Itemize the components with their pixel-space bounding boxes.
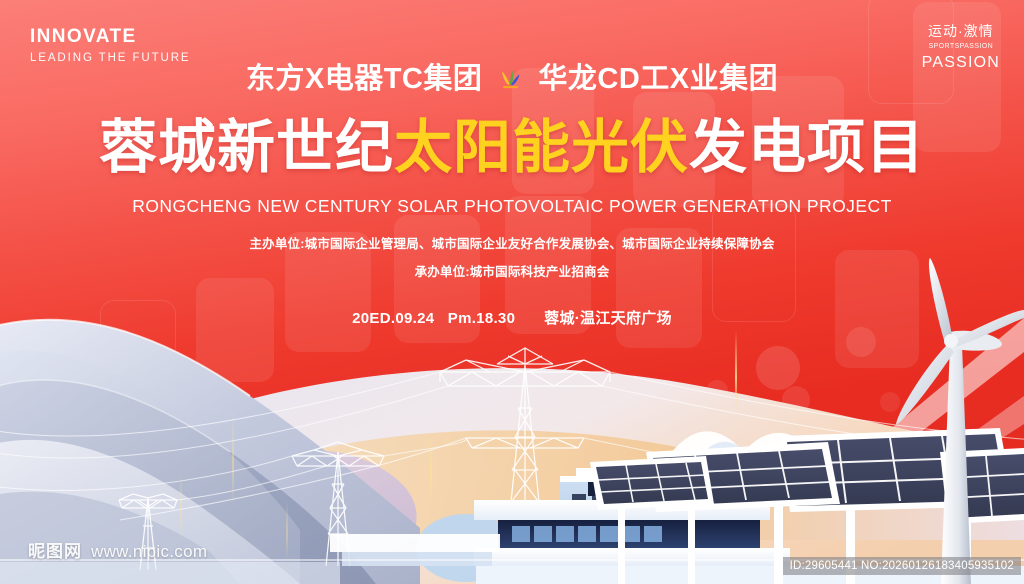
page-title: 蓉城新世纪太阳能光伏发电项目 (0, 119, 1024, 177)
brand-tagline: LEADING THE FUTURE (30, 53, 191, 65)
organizer-line-1: 主办单位:城市国际企业管理局、城市国际企业友好合作发展协会、城市国际企业持续保障… (0, 238, 1024, 251)
title-part-1: 蓉城新世纪 (99, 115, 394, 180)
company-row: 东方X电器TC集团 华龙CD工X业集团 (0, 64, 1024, 94)
left-company-name: 东方X电器TC集团 (246, 65, 483, 94)
leaf-sprout-mark-icon (495, 64, 525, 94)
stock-id-badge: ID:29605441 NO:20260126183405935102 (783, 557, 1021, 575)
event-time: Pm.18.30 (448, 310, 515, 327)
watermark-site-cn: 昵图网 (28, 537, 82, 562)
watermark: 昵图网 www.nipic.com (28, 537, 207, 562)
organizer-line-2: 承办单位:城市国际科技产业招商会 (0, 266, 1024, 279)
subtitle-english: RONGCHENG NEW CENTURY SOLAR PHOTOVOLTAIC… (0, 198, 1024, 216)
event-info-line: 20ED.09.24 Pm.18.30 蓉城·温江天府广场 (0, 311, 1024, 326)
passion-english-small: SPORTSPASSION (922, 43, 1000, 50)
right-company-name: 华龙CD工X业集团 (538, 65, 778, 94)
brand-logo-top-left: INNOVATE LEADING THE FUTURE (30, 27, 191, 65)
poster-canvas: INNOVATE LEADING THE FUTURE 运动·激情 SPORTS… (0, 0, 1024, 584)
passion-chinese: 运动·激情 (922, 24, 1000, 38)
brand-name: INNOVATE (30, 27, 191, 46)
event-venue: 蓉城·温江天府广场 (544, 310, 672, 327)
title-part-2: 太阳能光伏 (394, 115, 689, 180)
title-part-3: 发电项目 (689, 115, 925, 180)
watermark-site-url: www.nipic.com (91, 542, 207, 562)
event-date: 20ED.09.24 (352, 310, 434, 327)
